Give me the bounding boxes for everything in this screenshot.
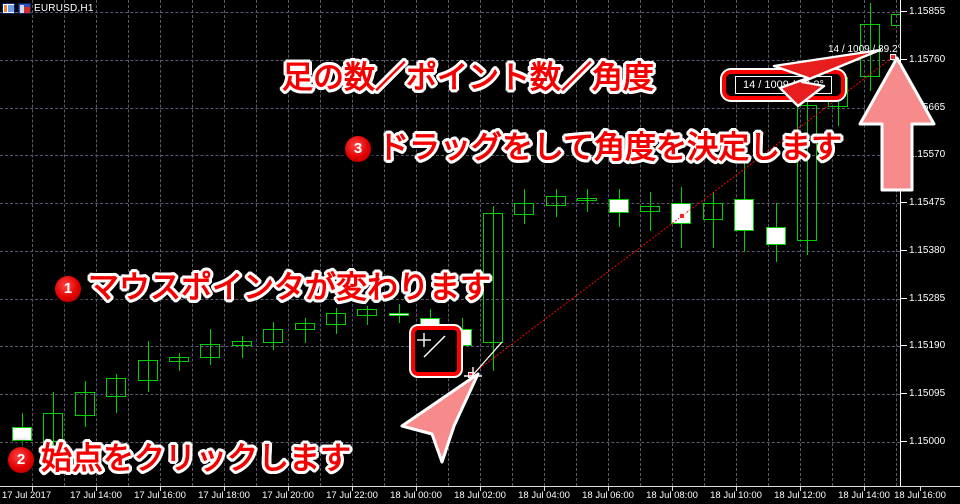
price-axis-tick: 1.15285 bbox=[901, 293, 960, 305]
annotation-number-badge: 3 bbox=[345, 136, 371, 162]
price-axis-tick: 1.15380 bbox=[901, 245, 960, 257]
price-tick-label: 1.15475 bbox=[909, 197, 945, 208]
candle-body bbox=[703, 203, 723, 220]
time-axis-tick: 18 Jul 00:00 bbox=[390, 489, 442, 503]
grid-line-vertical bbox=[128, 0, 129, 486]
price-tick-mark bbox=[901, 202, 907, 203]
candle-body bbox=[169, 357, 189, 362]
price-axis-tick: 1.15570 bbox=[901, 149, 960, 161]
time-tick-mark bbox=[480, 487, 481, 491]
price-tick-label: 1.15380 bbox=[909, 245, 945, 256]
chart-icon[interactable] bbox=[18, 3, 31, 14]
grid-line-vertical bbox=[224, 0, 225, 486]
price-tick-label: 1.15095 bbox=[909, 388, 945, 399]
time-tick-mark bbox=[672, 487, 673, 491]
candle-body bbox=[577, 198, 597, 201]
candle-wick bbox=[713, 192, 714, 248]
time-tick-mark bbox=[288, 487, 289, 491]
candle-body bbox=[514, 203, 534, 215]
annotation-bars-points-angle: 足の数／ポイント数／角度 bbox=[282, 62, 654, 95]
time-tick-mark bbox=[736, 487, 737, 491]
candle-wick bbox=[650, 192, 651, 230]
price-axis-tick: 1.15475 bbox=[901, 197, 960, 209]
annotation-step-2: 2 始点をクリックします bbox=[8, 443, 351, 476]
price-tick-mark bbox=[901, 107, 907, 108]
time-axis-tick: 17 Jul 14:00 bbox=[70, 489, 122, 503]
candle-body bbox=[797, 105, 817, 241]
trendline-anchor-middle[interactable] bbox=[679, 213, 685, 219]
price-axis-tick: 1.15190 bbox=[901, 340, 960, 352]
time-axis-tick: 18 Jul 02:00 bbox=[454, 489, 506, 503]
candle-body bbox=[295, 323, 315, 330]
candle-body bbox=[734, 199, 754, 230]
annotation-step-3: 3 ドラッグをして角度を決定します bbox=[345, 132, 842, 165]
price-tick-label: 1.15760 bbox=[909, 54, 945, 65]
grid-line-vertical bbox=[256, 0, 257, 486]
crosshair-drag-line bbox=[470, 340, 504, 378]
price-tick-label: 1.15190 bbox=[909, 340, 945, 351]
annotation-text: マウスポインタが変わります bbox=[88, 272, 491, 305]
price-tick-mark bbox=[901, 298, 907, 299]
price-tick-label: 1.15855 bbox=[909, 6, 945, 17]
time-axis-tick: 18 Jul 12:00 bbox=[774, 489, 826, 503]
candle-body bbox=[640, 206, 660, 211]
price-tick-mark bbox=[901, 345, 907, 346]
time-axis-tick: 17 Jul 18:00 bbox=[198, 489, 250, 503]
price-tick-label: 1.15665 bbox=[909, 102, 945, 113]
candle-body bbox=[138, 360, 158, 381]
price-axis-tick: 1.15095 bbox=[901, 388, 960, 400]
tooltip-callout-box: 14 / 1009 / 89.2° bbox=[722, 70, 845, 100]
time-axis-tick: 18 Jul 08:00 bbox=[646, 489, 698, 503]
annotation-text: 始点をクリックします bbox=[41, 443, 351, 476]
candle-wick bbox=[242, 336, 243, 359]
window-restore-icon[interactable] bbox=[2, 3, 15, 14]
price-axis[interactable]: 1.158551.157601.156651.155701.154751.153… bbox=[900, 0, 960, 486]
candle-body bbox=[232, 341, 252, 346]
time-tick-mark bbox=[864, 487, 865, 491]
price-tick-mark bbox=[901, 441, 907, 442]
candle-body bbox=[263, 329, 283, 343]
grid-line-vertical bbox=[192, 0, 193, 486]
price-tick-mark bbox=[901, 59, 907, 60]
time-axis-tick: 17 Jul 16:00 bbox=[134, 489, 186, 503]
price-tick-mark bbox=[901, 393, 907, 394]
time-tick-mark bbox=[544, 487, 545, 491]
candle-body bbox=[389, 313, 409, 316]
annotation-number-badge: 2 bbox=[8, 447, 34, 473]
grid-line-horizontal bbox=[0, 394, 900, 395]
grid-line-horizontal bbox=[0, 203, 900, 204]
time-axis-tick: 17 Jul 2017 bbox=[2, 489, 51, 503]
candle-body bbox=[75, 392, 95, 416]
candle-body bbox=[43, 413, 63, 443]
price-tick-label: 1.15285 bbox=[909, 293, 945, 304]
grid-line-vertical bbox=[160, 0, 161, 486]
chart-title-label: EURUSD,H1 bbox=[34, 3, 94, 14]
candle-body bbox=[326, 313, 346, 325]
annotation-text: ドラッグをして角度を決定します bbox=[378, 132, 842, 165]
price-axis-tick: 1.15760 bbox=[901, 54, 960, 66]
time-tick-mark bbox=[96, 487, 97, 491]
mt4-chart-window: 14 / 1009 / 89.2° 1.158551.157601.156651… bbox=[0, 0, 960, 504]
time-tick-mark bbox=[160, 487, 161, 491]
time-axis-tick: 17 Jul 22:00 bbox=[326, 489, 378, 503]
candle-wick bbox=[305, 318, 306, 342]
chart-titlebar: EURUSD,H1 bbox=[0, 0, 96, 15]
annotation-text: 足の数／ポイント数／角度 bbox=[282, 62, 654, 95]
grid-line-horizontal bbox=[0, 12, 900, 13]
candle-body bbox=[609, 199, 629, 213]
time-tick-mark bbox=[608, 487, 609, 491]
trendline-measure-label: 14 / 1009 / 89.2° bbox=[828, 44, 900, 56]
time-tick-mark bbox=[920, 487, 921, 491]
grid-line-horizontal bbox=[0, 251, 900, 252]
candle-body bbox=[546, 196, 566, 206]
time-tick-mark bbox=[416, 487, 417, 491]
time-axis-tick: 17 Jul 20:00 bbox=[262, 489, 314, 503]
time-axis-tick: 18 Jul 06:00 bbox=[582, 489, 634, 503]
time-axis-tick: 18 Jul 14:00 bbox=[838, 489, 890, 503]
price-tick-mark bbox=[901, 11, 907, 12]
candle-body bbox=[420, 318, 440, 325]
candle-body bbox=[200, 344, 220, 358]
price-tick-label: 1.15000 bbox=[909, 436, 945, 447]
grid-line-vertical bbox=[32, 0, 33, 486]
candle-body bbox=[106, 378, 126, 397]
grid-line-vertical bbox=[64, 0, 65, 486]
price-axis-tick: 1.15000 bbox=[901, 436, 960, 448]
candle-body bbox=[357, 309, 377, 316]
price-tick-mark bbox=[901, 154, 907, 155]
grid-line-vertical bbox=[704, 0, 705, 486]
price-axis-tick: 1.15665 bbox=[901, 102, 960, 114]
grid-line-vertical bbox=[672, 0, 673, 486]
time-tick-mark bbox=[32, 487, 33, 491]
time-tick-mark bbox=[224, 487, 225, 491]
crosshair-trendline-icon bbox=[415, 330, 449, 364]
crosshair-trendline-icon-callout bbox=[411, 326, 461, 376]
time-tick-mark bbox=[352, 487, 353, 491]
time-axis[interactable]: 17 Jul 201717 Jul 14:0017 Jul 16:0017 Ju… bbox=[0, 486, 960, 504]
annotation-step-1: 1 マウスポインタが変わります bbox=[55, 272, 491, 305]
time-axis-tick: 18 Jul 16:00 bbox=[894, 489, 946, 503]
tooltip-value-text: 14 / 1009 / 89.2° bbox=[735, 76, 832, 94]
price-tick-mark bbox=[901, 250, 907, 251]
time-tick-mark bbox=[800, 487, 801, 491]
candle-body bbox=[891, 14, 900, 26]
price-tick-label: 1.15570 bbox=[909, 149, 945, 160]
grid-line-vertical bbox=[96, 0, 97, 486]
candle-body bbox=[766, 227, 786, 244]
candle-body bbox=[12, 427, 32, 441]
annotation-number-badge: 1 bbox=[55, 276, 81, 302]
grid-line-vertical bbox=[896, 0, 897, 486]
price-axis-tick: 1.15855 bbox=[901, 6, 960, 18]
time-axis-tick: 18 Jul 10:00 bbox=[710, 489, 762, 503]
time-axis-tick: 18 Jul 04:00 bbox=[518, 489, 570, 503]
grid-line-horizontal bbox=[0, 108, 900, 109]
